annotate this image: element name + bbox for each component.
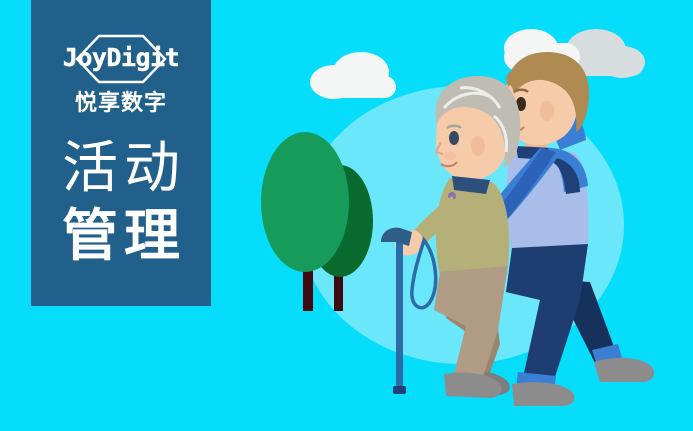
poster-canvas: JoyDigit 悦享数字 活动 管理 <box>0 0 693 431</box>
page-title-line-2: 管理 <box>31 203 211 271</box>
logo-subtitle: 悦享数字 <box>31 90 211 118</box>
young-man-ear <box>540 101 554 121</box>
logo-hexagon-wrap: JoyDigit <box>31 34 211 84</box>
elder-ear <box>471 136 485 156</box>
page-title-line-1: 活动 <box>31 135 211 203</box>
page-title: 活动 管理 <box>31 135 211 271</box>
elder-eye <box>449 131 459 145</box>
elder-cardigan <box>436 178 509 276</box>
logo-wordmark: JoyDigit <box>31 43 211 73</box>
elder-cheek <box>444 152 456 160</box>
left-info-panel: JoyDigit 悦享数字 活动 管理 <box>31 0 211 306</box>
brand-logo: JoyDigit 悦享数字 <box>31 34 211 118</box>
